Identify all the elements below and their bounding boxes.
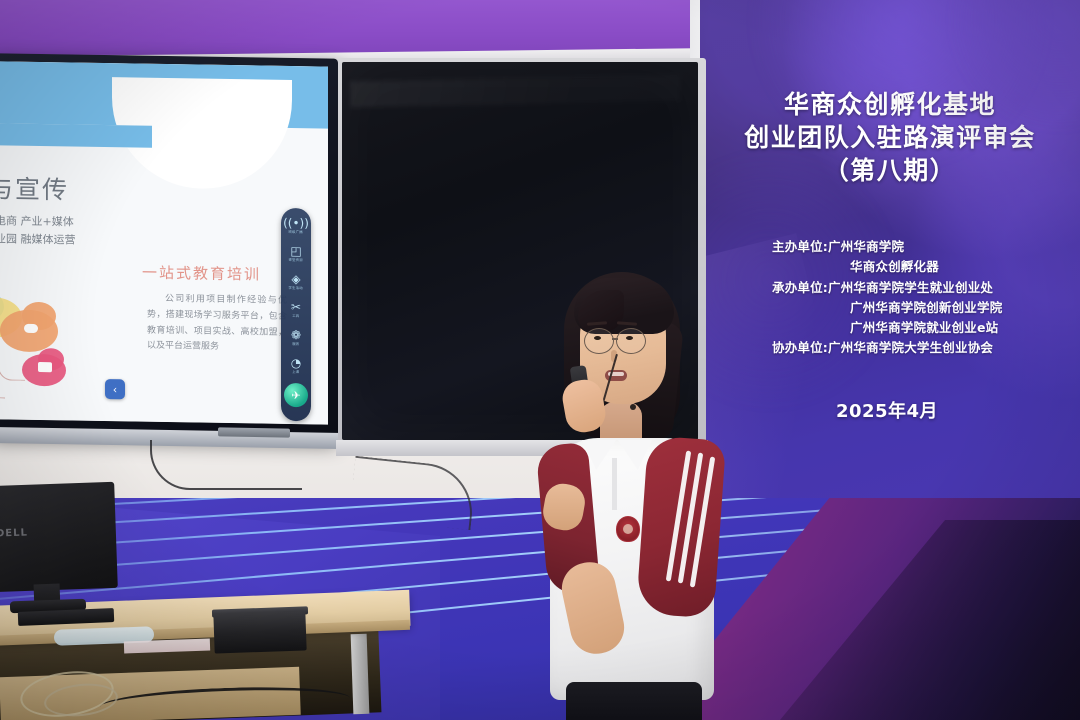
trousers [566, 682, 702, 720]
slide-subheading-line1: 品电商 产业+媒体 [0, 213, 74, 230]
smart-whiteboard[interactable]: 与宣传 品电商 产业+媒体 产业园 融媒体运营 一站式教育培训 公司利用项目制作… [0, 53, 338, 440]
launcher-button[interactable]: ✈ [284, 383, 308, 407]
bell-icon: ◔ [291, 357, 301, 369]
folder-icon: ◰ [290, 245, 301, 257]
presentation-slide: 与宣传 品电商 产业+媒体 产业园 融媒体运营 一站式教育培训 公司利用项目制作… [0, 61, 328, 424]
whiteboard-speaker-bar [218, 427, 290, 437]
organizer-value: 广州华商学院就业创业e站 [850, 318, 998, 338]
apps-grid-icon: ❁ [291, 329, 301, 341]
toolbar-item-bell[interactable]: ◔ 上课 [283, 353, 309, 379]
organizer-list: 主办单位: 广州华商学院 华商众创孵化器 承办单位: 广州华商学院学生就业创业处… [700, 237, 1074, 359]
eye-left [594, 336, 601, 340]
organizer-value: 广州华商学院创新创业学院 [850, 298, 1002, 318]
shirt-placket [612, 458, 617, 510]
event-date: 2025年4月 [700, 397, 1074, 423]
event-title-line-2: 创业团队入驻路演评审会 [706, 121, 1074, 154]
media-card-icon [38, 362, 52, 372]
school-emblem [616, 516, 640, 542]
organizer-row: 主办单位: 广州华商学院 [700, 237, 1074, 257]
toolbar-label: 学生活动 [289, 286, 303, 291]
toolbar-label: 上课 [292, 370, 299, 375]
slide-section-title: 一站式教育培训 [142, 262, 261, 285]
organizer-value: 广州华商学院学生就业创业处 [828, 278, 993, 298]
toolbar-item-apps[interactable]: ❁ 服务 [283, 325, 309, 351]
organizer-row: 承办单位: 广州华商学院学生就业创业处 [700, 278, 1074, 298]
glasses-lens-left [584, 328, 614, 354]
glasses-lens-right [616, 328, 646, 354]
desk-leg [351, 634, 370, 715]
desk-port-box[interactable] [213, 610, 306, 653]
toolbar-label: 工具 [292, 314, 299, 319]
toolbar-label: 班级广播 [289, 230, 303, 235]
organizer-row: 广州华商学院创新创业学院 [700, 298, 1074, 318]
toolbar-item-activity[interactable]: ◈ 学生活动 [283, 269, 309, 295]
activity-icon: ◈ [291, 273, 300, 285]
organizer-label: 主办单位: [772, 237, 828, 257]
event-title-line-1: 华商众创孵化基地 [706, 88, 1074, 121]
toolbar-item-resources[interactable]: ◰ 课堂资源 [283, 241, 309, 267]
presentation-scene-photo: 与宣传 品电商 产业+媒体 产业园 融媒体运营 一站式教育培训 公司利用项目制作… [0, 0, 1080, 720]
toolbar-label: 课堂资源 [289, 258, 303, 263]
slide-body-text: 公司利用项目制作经验与优势，搭建现场学习服务平台，包含教育培训、项目实战、高校加… [147, 292, 287, 357]
toolbar-item-tools[interactable]: ✂ 工具 [283, 297, 309, 323]
whiteboard-cable [150, 440, 302, 490]
organizer-value: 广州华商学院大学生创业协会 [828, 338, 993, 358]
toolbar-item-broadcast[interactable]: ((•)) 班级广播 [283, 213, 309, 239]
event-title-line-3: （第八期） [706, 154, 1074, 187]
organizer-row: 协办单位: 广州华商学院大学生创业协会 [700, 338, 1074, 358]
eye-right [626, 336, 633, 340]
toolbar-label: 服务 [292, 342, 299, 347]
slide-subheading-line2: 产业园 融媒体运营 [0, 231, 76, 248]
whiteboard-side-toolbar[interactable]: ((•)) 班级广播 ◰ 课堂资源 ◈ 学生活动 ✂ 工具 ❁ 服务 [281, 208, 311, 421]
broadcast-icon: ((•)) [283, 217, 309, 229]
organizer-value: 华商众创孵化器 [850, 257, 939, 277]
chat-bubble-icon [24, 324, 38, 333]
organizer-row: 广州华商学院就业创业e站 [700, 318, 1074, 338]
organizer-label: 协办单位: [772, 338, 828, 358]
illustration-stem [0, 361, 5, 398]
slide-header-band-secondary [0, 123, 152, 148]
slide-heading: 与宣传 [0, 169, 69, 206]
launcher-icon: ✈ [291, 389, 300, 402]
glasses-bridge [612, 338, 618, 340]
headset-microphone-tip [630, 404, 636, 410]
tools-icon: ✂ [291, 301, 301, 313]
organizer-label: 承办单位: [772, 278, 828, 298]
organizer-row: 华商众创孵化器 [700, 257, 1074, 277]
event-title-block: 华商众创孵化基地 创业团队入驻路演评审会 （第八期） [706, 88, 1074, 187]
whiteboard-screen[interactable]: 与宣传 品电商 产业+媒体 产业园 融媒体运营 一站式教育培训 公司利用项目制作… [0, 61, 328, 424]
monitor-brand-label: DELL [0, 527, 28, 539]
chevron-left-icon: ‹ [113, 384, 117, 395]
slide-back-button[interactable]: ‹ [105, 379, 125, 399]
organizer-value: 广州华商学院 [828, 237, 904, 257]
